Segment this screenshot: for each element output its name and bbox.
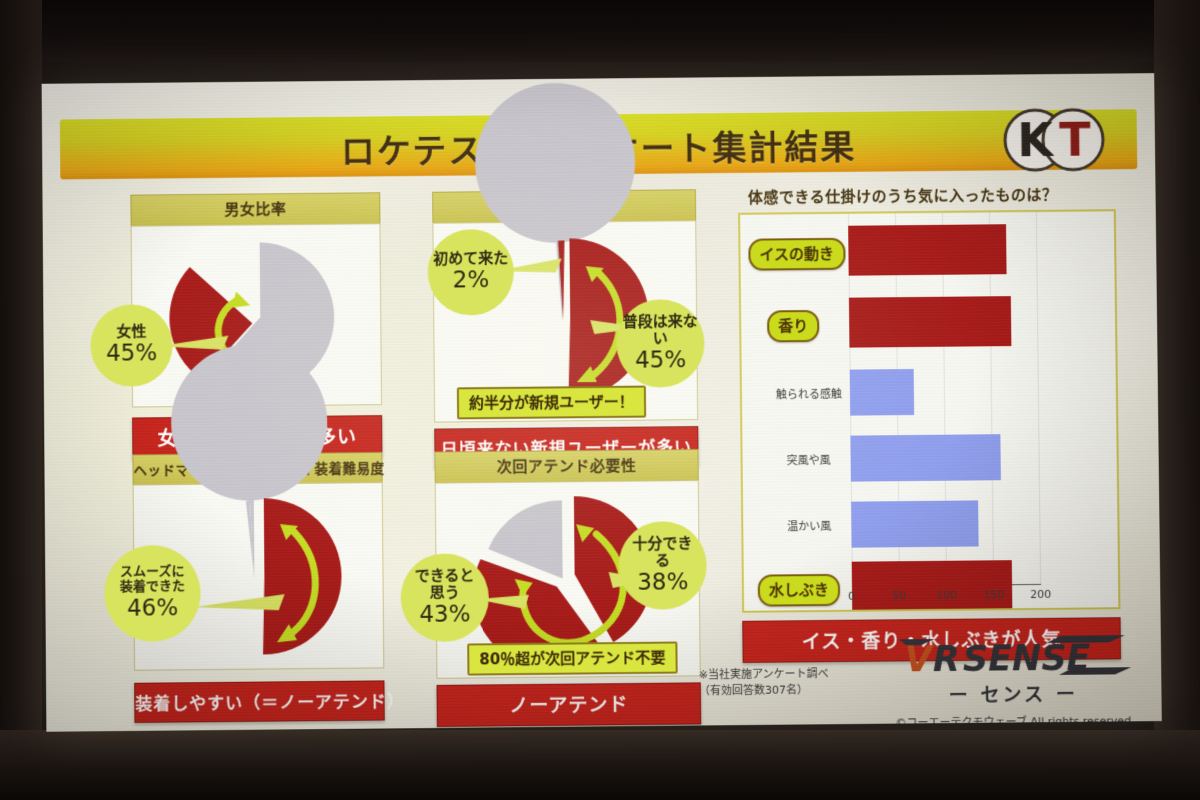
- vrsense-subtitle: ー センス ー: [895, 679, 1132, 708]
- bubble-percent: 45%: [106, 341, 157, 368]
- bubble-percent: 43%: [419, 601, 470, 628]
- panel-header-gender: 男女比率: [130, 192, 380, 225]
- bar-label-water-splash: 水しぶき: [758, 574, 840, 607]
- bar-chart-favorite-effects: イスの動き 香り 触られる感触 突風や風 温かい風 水しぶき 0 50 100 …: [738, 209, 1120, 613]
- bubble-title-line: 初めて来た: [433, 250, 508, 268]
- panel-hmd-difficulty: ヘッドマウントディスプレイ装着難易度: [132, 452, 384, 723]
- callout-bubble-rare-visitor: 普段は来ない 45%: [616, 299, 705, 388]
- xtick-150: 150: [983, 588, 1004, 601]
- svg-text:K: K: [1017, 113, 1055, 167]
- note-half-new-users: 約半分が新規ユーザー！: [457, 386, 646, 420]
- kt-logo-icon: K T: [991, 103, 1118, 176]
- bubble-title-line: 普段は来ない: [616, 313, 704, 348]
- callout-bubble-smooth-wear: スムーズに 装着できた 46%: [104, 545, 201, 642]
- vrsense-wordmark-icon: V R SENSE: [895, 633, 1132, 681]
- svg-text:T: T: [1059, 113, 1092, 167]
- xtick-0: 0: [848, 590, 855, 603]
- xtick-50: 50: [892, 589, 906, 602]
- copyright-text: ©コーエーテクモウェーブ All rights reserved.: [895, 712, 1131, 730]
- callout-bubble-female: 女性 45%: [90, 304, 173, 387]
- xtick-200: 200: [1030, 588, 1051, 601]
- panel-favorite-effects: 体感できる仕掛けのうち気に入ったものは？ イスの動き 香り 触: [738, 179, 1121, 663]
- callout-bubble-can-do: できると 思う 43%: [400, 553, 489, 642]
- panel-next-attend: 次回アテンド必要性: [434, 449, 701, 727]
- callout-bubble-enough: 十分でき る 38%: [618, 521, 707, 610]
- bar-label-warm-wind: 温かい風: [787, 518, 831, 534]
- bar-label-gust-wind: 突風や風: [787, 452, 831, 468]
- bar-gust-wind: [850, 434, 1001, 481]
- bubble-title: 女性: [116, 324, 146, 342]
- xtick-100: 100: [936, 589, 957, 602]
- vrsense-logo: V R SENSE ー センス ー ©コーエーテクモウェーブ All right…: [895, 633, 1132, 730]
- room-dark-left: [0, 0, 42, 800]
- bar-touch: [850, 369, 914, 416]
- bar-water-splash: [852, 560, 1013, 610]
- bubble-percent: 46%: [127, 595, 178, 622]
- svg-text:R: R: [933, 640, 960, 680]
- bar-label-chair-motion: イスの動き: [748, 238, 845, 271]
- footnote-line-2: （有効回答数307名）: [699, 682, 829, 699]
- projected-slide-photo: ロケテスト アンケート集計結果 K T 男女比率: [0, 0, 1200, 800]
- bubble-title-line2: 思う: [430, 584, 460, 602]
- bubble-percent: 2%: [453, 268, 490, 295]
- panel-header-attend: 次回アテンド必要性: [434, 449, 698, 483]
- bubble-percent: 38%: [637, 569, 688, 596]
- caption-hmd: 装着しやすい（＝ノーアテンド）: [134, 680, 385, 722]
- gridline-200: [1036, 212, 1041, 584]
- bar-label-touch: 触られる感触: [776, 386, 842, 403]
- bubble-title-line2: る: [655, 552, 670, 569]
- svg-text:V: V: [905, 640, 935, 680]
- bar-warm-wind: [851, 500, 979, 547]
- footnote-line-1: ※当社実施アンケート調べ: [699, 666, 829, 683]
- callout-bubble-firsttime: 初めて来た 2%: [427, 229, 514, 316]
- room-dark-top: [0, 0, 1200, 62]
- room-dark-bottom: [0, 730, 1200, 800]
- bubble-title-line1: できると: [415, 567, 475, 585]
- panel-header-effects: 体感できる仕掛けのうち気に入ったものは？: [738, 179, 1116, 213]
- bubble-title-line1: 十分でき: [632, 535, 692, 553]
- bubble-title-line2: 装着できた: [120, 580, 185, 596]
- survey-footnote: ※当社実施アンケート調べ （有効回答数307名）: [699, 666, 829, 699]
- bubble-title-line1: スムーズに: [120, 565, 185, 581]
- panel-body-hmd: スムーズに 装着できた 46%: [133, 482, 385, 671]
- bar-label-scent: 香り: [767, 310, 819, 342]
- panel-visit-frequency: 来店頻度分布: [432, 189, 699, 468]
- svg-text:SENSE: SENSE: [963, 639, 1091, 680]
- caption-attend: ノーアテンド: [437, 682, 702, 727]
- note-over-80-percent: 80％超が次回アテンド不要: [467, 641, 677, 675]
- bubble-percent: 45%: [635, 347, 686, 374]
- slide-canvas: ロケテスト アンケート集計結果 K T 男女比率: [42, 73, 1162, 732]
- bar-scent: [849, 296, 1011, 348]
- bar-chair-motion: [848, 224, 1006, 275]
- panel-body-attend: 十分でき る 38% できると 思う 43% 80％超が次回アテンド不要: [435, 480, 701, 679]
- panel-body-visit: 初めて来た 2% 普段は来ない 45% 約半分が新規ユーザー！: [432, 220, 698, 422]
